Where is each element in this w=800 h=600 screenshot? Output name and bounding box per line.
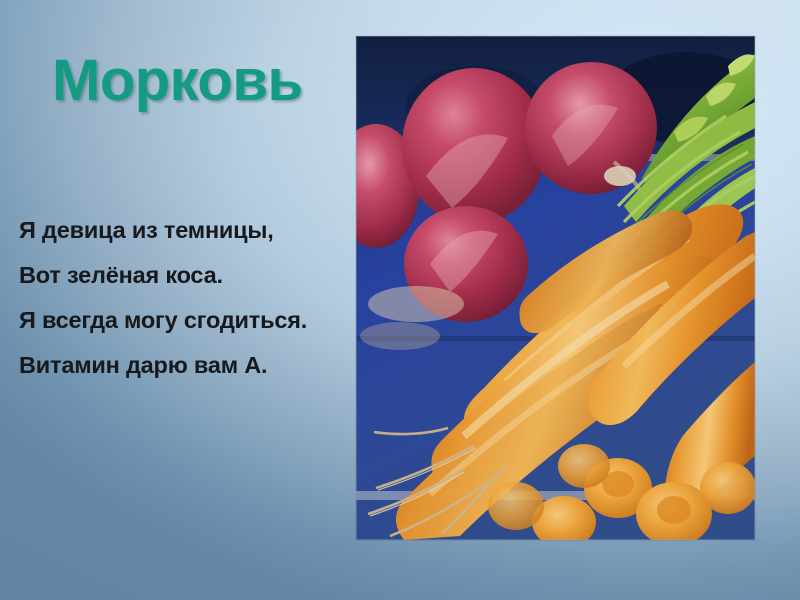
vegetable-photo (356, 36, 755, 540)
riddle-line: Вот зелёная коса. (19, 253, 354, 298)
riddle-line: Я девица из темницы, (19, 208, 354, 253)
vegetable-photo-illustration (356, 36, 755, 540)
presentation-slide: Морковь Я девица из темницы, Вот зелёная… (0, 0, 800, 600)
riddle-text-block: Я девица из темницы, Вот зелёная коса. Я… (19, 208, 354, 388)
page-title: Морковь (52, 52, 303, 110)
riddle-line: Я всегда могу сгодиться. (19, 298, 354, 343)
riddle-line: Витамин дарю вам А. (19, 343, 354, 388)
